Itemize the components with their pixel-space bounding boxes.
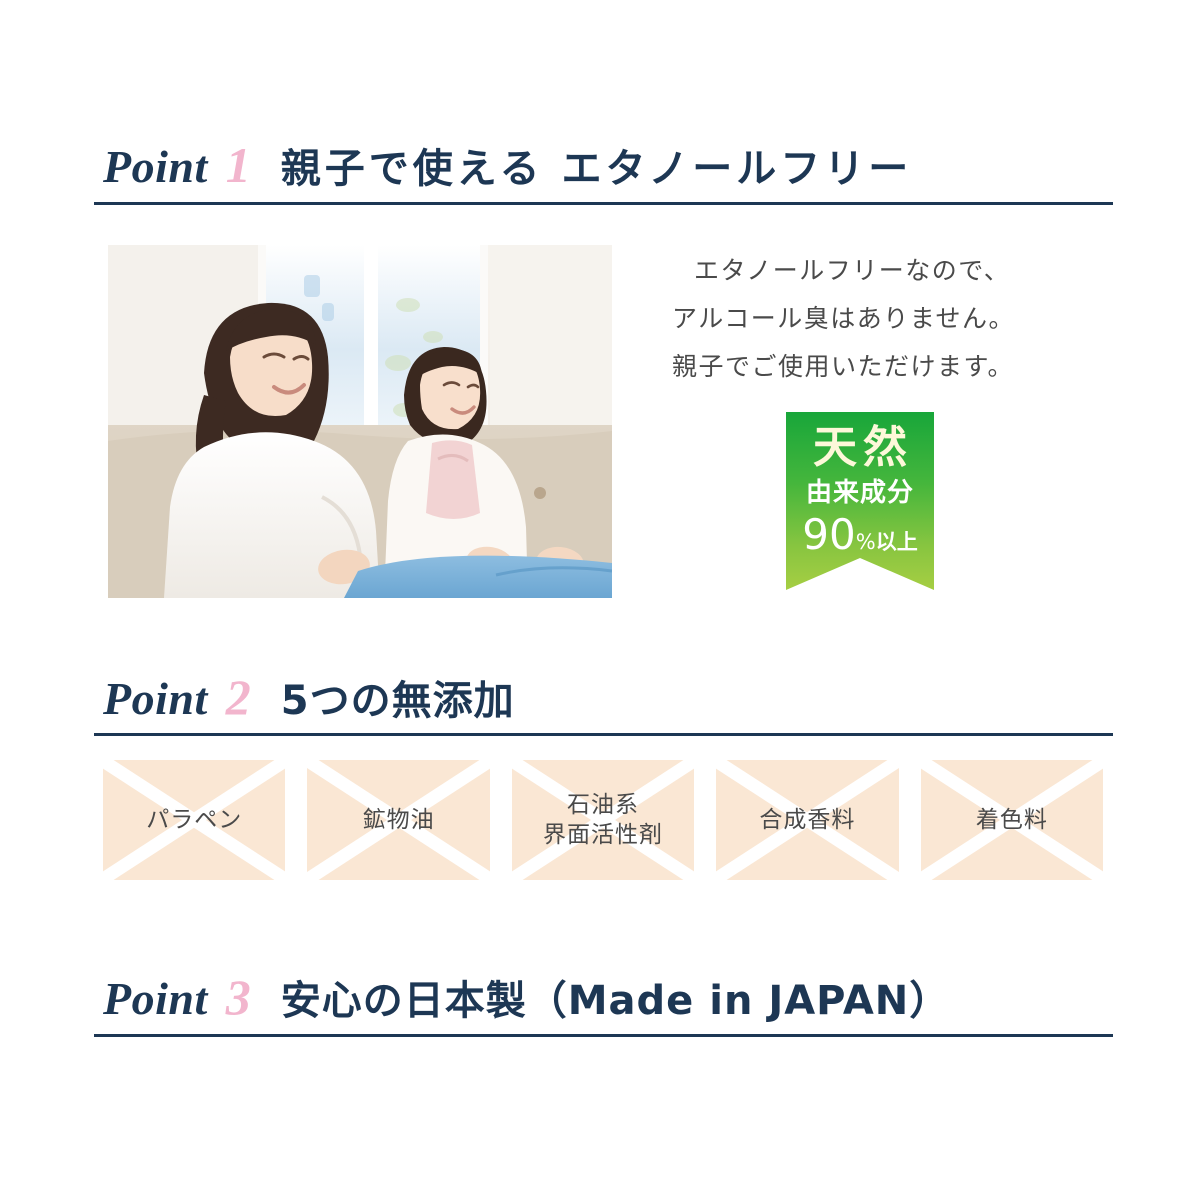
- badge-suffix: 以上: [876, 532, 918, 553]
- free-from-label: パラペン: [146, 805, 242, 835]
- badge-line-yurai-seibun: 由来成分: [786, 470, 934, 506]
- point-1-title: 親子で使える エタノールフリー: [281, 149, 913, 189]
- point-1-label: Point: [103, 144, 208, 190]
- description-line-2: アルコール臭はありません。: [672, 295, 1072, 343]
- point-2-heading: Point 2 5つの無添加: [103, 672, 515, 722]
- free-from-item: 合成香料: [716, 760, 898, 880]
- badge-line-tennen: 天然: [786, 412, 934, 470]
- point-2-number: 2: [226, 672, 251, 722]
- free-from-label: 石油系 界面活性剤: [543, 790, 663, 850]
- free-from-item: パラペン: [103, 760, 285, 880]
- point-3-number: 3: [226, 972, 251, 1022]
- point-1-description: エタノールフリーなので、 アルコール臭はありません。 親子でご使用いただけます。: [672, 247, 1072, 391]
- free-from-label: 鉱物油: [363, 805, 435, 835]
- free-from-box-list: パラペン 鉱物油 石油系 界面活性剤 合成香料 着色料: [103, 760, 1103, 880]
- badge-number: 90: [802, 514, 855, 556]
- description-line-3: 親子でご使用いただけます。: [672, 343, 1072, 391]
- point-3-title: 安心の日本製（Made in JAPAN）: [281, 981, 951, 1021]
- point-2-title: 5つの無添加: [281, 681, 515, 721]
- badge-percent-sign: %: [856, 532, 876, 553]
- free-from-label: 合成香料: [759, 805, 855, 835]
- natural-ingredients-badge: 天然 由来成分 90 % 以上: [786, 412, 934, 590]
- point-1-heading: Point 1 親子で使える エタノールフリー: [103, 140, 912, 190]
- family-photo-illustration: [108, 245, 612, 598]
- free-from-item: 着色料: [921, 760, 1103, 880]
- point-3-heading: Point 3 安心の日本製（Made in JAPAN）: [103, 972, 950, 1022]
- point-2-label: Point: [103, 676, 208, 722]
- point-3-label: Point: [103, 976, 208, 1022]
- point-2-divider: [94, 733, 1113, 736]
- description-line-1: エタノールフリーなので、: [672, 247, 1072, 295]
- free-from-item: 石油系 界面活性剤: [512, 760, 694, 880]
- free-from-item: 鉱物油: [307, 760, 489, 880]
- badge-line-percentage: 90 % 以上: [786, 506, 934, 556]
- point-1-number: 1: [226, 140, 251, 190]
- point-3-divider: [94, 1034, 1113, 1037]
- point-1-divider: [94, 202, 1113, 205]
- free-from-label: 着色料: [976, 805, 1048, 835]
- family-photo: [108, 245, 612, 598]
